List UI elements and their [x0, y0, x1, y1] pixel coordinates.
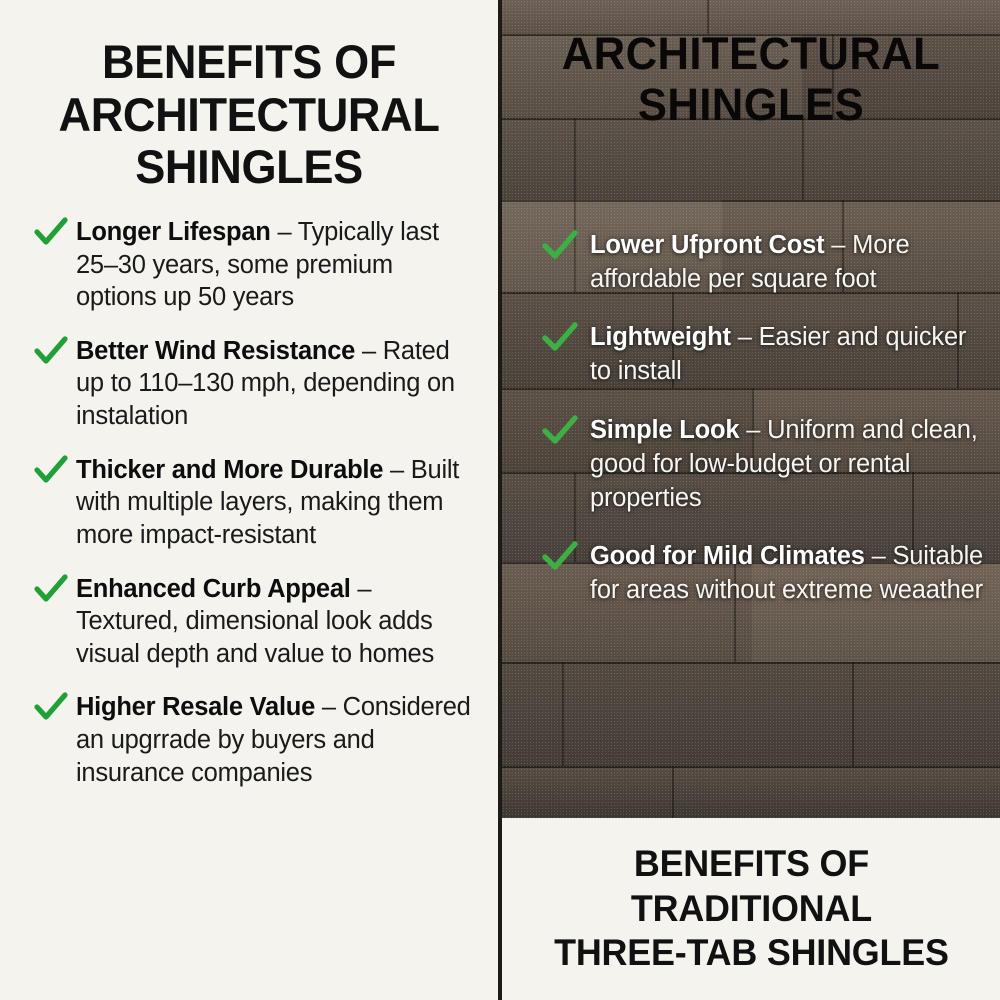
list-item-dash: – — [383, 456, 411, 484]
list-item-lead: Enhanced Curb Appeal — [76, 575, 351, 603]
list-item-dash: – — [351, 575, 372, 603]
left-title-line-2: ARCHITECTURAL — [59, 88, 440, 141]
left-panel-title: BENEFITS OF ARCHITECTURAL SHINGLES — [10, 0, 488, 194]
list-item-dash: – — [271, 218, 298, 246]
list-item-lead: Longer Lifespan — [76, 218, 271, 246]
right-title-line-2: SHINGLES — [638, 79, 864, 130]
list-item: Good for Mild Climates – Suitable for ar… — [532, 539, 984, 607]
check-icon — [542, 415, 578, 446]
list-item-lead: Good for Mild Climates — [590, 542, 865, 570]
footer-title-line-1: BENEFITS OF — [633, 843, 868, 884]
left-title-line-1: BENEFITS OF — [102, 35, 396, 88]
check-icon — [34, 574, 68, 604]
list-item-dash: – — [315, 693, 343, 721]
right-title-line-1: ARCHITECTURAL — [562, 28, 940, 79]
list-item-dash: – — [824, 231, 852, 259]
list-item-lead: Higher Resale Value — [76, 693, 315, 721]
check-icon — [34, 336, 68, 366]
list-item: Simple Look – Uniform and clean, good fo… — [532, 413, 984, 515]
list-item-lead: Lower Ufpront Cost — [590, 231, 824, 259]
left-title-line-3: SHINGLES — [135, 140, 363, 193]
list-item-dash: – — [355, 337, 383, 365]
left-panel: BENEFITS OF ARCHITECTURAL SHINGLES Longe… — [0, 0, 498, 1000]
shingle-seam — [672, 766, 674, 818]
footer-title: BENEFITS OF TRADITIONAL THREE-TAB SHINGL… — [542, 842, 960, 975]
right-panel-footer: BENEFITS OF TRADITIONAL THREE-TAB SHINGL… — [502, 818, 1000, 1000]
list-item-lead: Better Wind Resistance — [76, 337, 355, 365]
list-item: Lightweight – Easier and quicker to inst… — [532, 320, 984, 388]
list-item: Thicker and More Durable – Built with mu… — [28, 454, 476, 552]
list-item-lead: Thicker and More Durable — [76, 456, 383, 484]
list-item: Enhanced Curb Appeal – Textured, dimensi… — [28, 573, 476, 671]
shingle-seam — [852, 662, 854, 766]
list-item-body: Textured, dimensional look adds visual d… — [76, 607, 434, 668]
right-panel: ARCHITECTURAL SHINGLES Lower Ufpront Cos… — [502, 0, 1000, 1000]
right-panel-title: ARCHITECTURAL SHINGLES — [509, 28, 992, 131]
check-icon — [542, 541, 578, 572]
right-benefits-list: Lower Ufpront Cost – More affordable per… — [502, 228, 1000, 607]
list-item: Better Wind Resistance – Rated up to 110… — [28, 335, 476, 433]
infographic-root: BENEFITS OF ARCHITECTURAL SHINGLES Longe… — [0, 0, 1000, 1000]
list-item-dash: – — [865, 542, 893, 570]
left-benefits-list: Longer Lifespan – Typically last 25–30 y… — [0, 194, 498, 789]
list-item: Lower Ufpront Cost – More affordable per… — [532, 228, 984, 296]
footer-title-line-2: TRADITIONAL — [630, 888, 871, 929]
list-item: Longer Lifespan – Typically last 25–30 y… — [28, 216, 476, 314]
list-item-dash: – — [739, 416, 767, 444]
list-item-dash: – — [731, 323, 759, 351]
check-icon — [542, 322, 578, 353]
shingle-seam — [562, 662, 564, 766]
check-icon — [34, 217, 68, 247]
check-icon — [542, 230, 578, 261]
list-item-lead: Lightweight — [590, 323, 731, 351]
check-icon — [34, 692, 68, 722]
list-item-lead: Simple Look — [590, 416, 739, 444]
footer-title-line-3: THREE-TAB SHINGLES — [554, 932, 949, 973]
check-icon — [34, 455, 68, 485]
list-item: Higher Resale Value – Considered an upgr… — [28, 691, 476, 789]
